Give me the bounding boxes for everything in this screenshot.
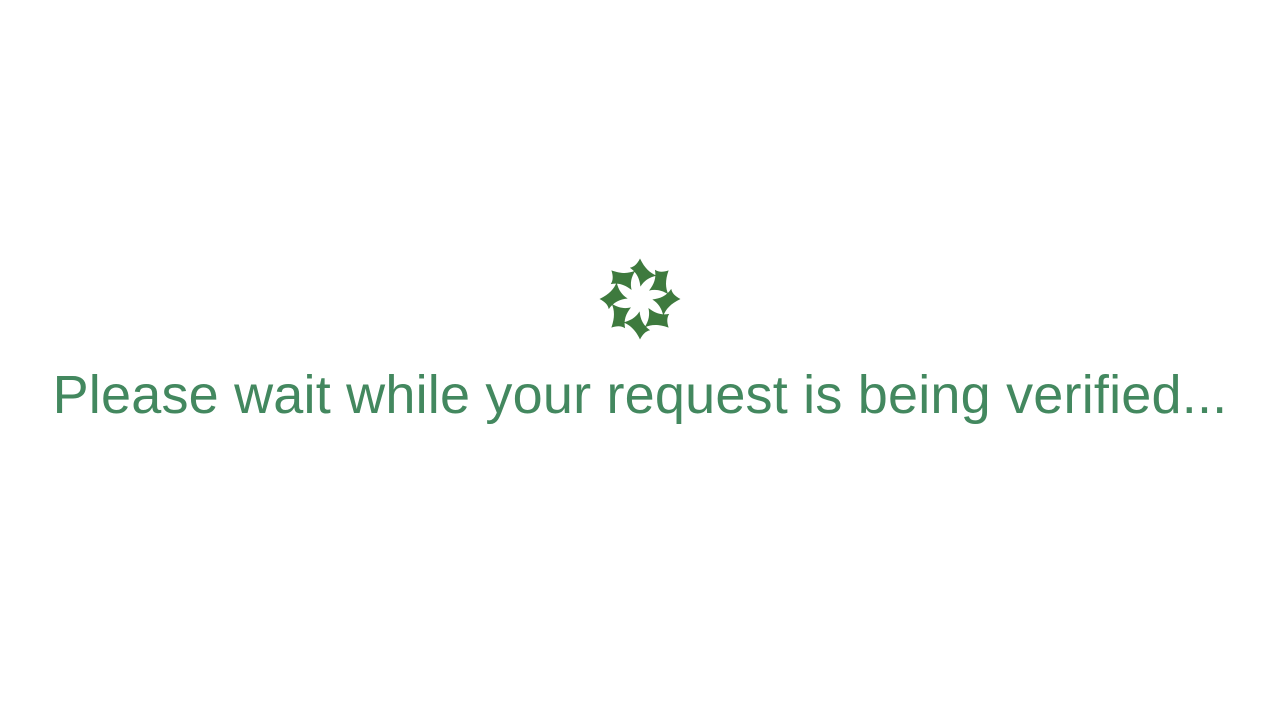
pinwheel-spinner-graphic (596, 255, 684, 343)
verification-page: Please wait while your request is being … (0, 0, 1280, 720)
pinwheel-spinner-icon (596, 255, 684, 343)
status-message: Please wait while your request is being … (53, 367, 1228, 424)
loading-spinner-container (0, 254, 1280, 344)
status-message-container: Please wait while your request is being … (0, 362, 1280, 428)
spinner-hub (628, 287, 653, 312)
